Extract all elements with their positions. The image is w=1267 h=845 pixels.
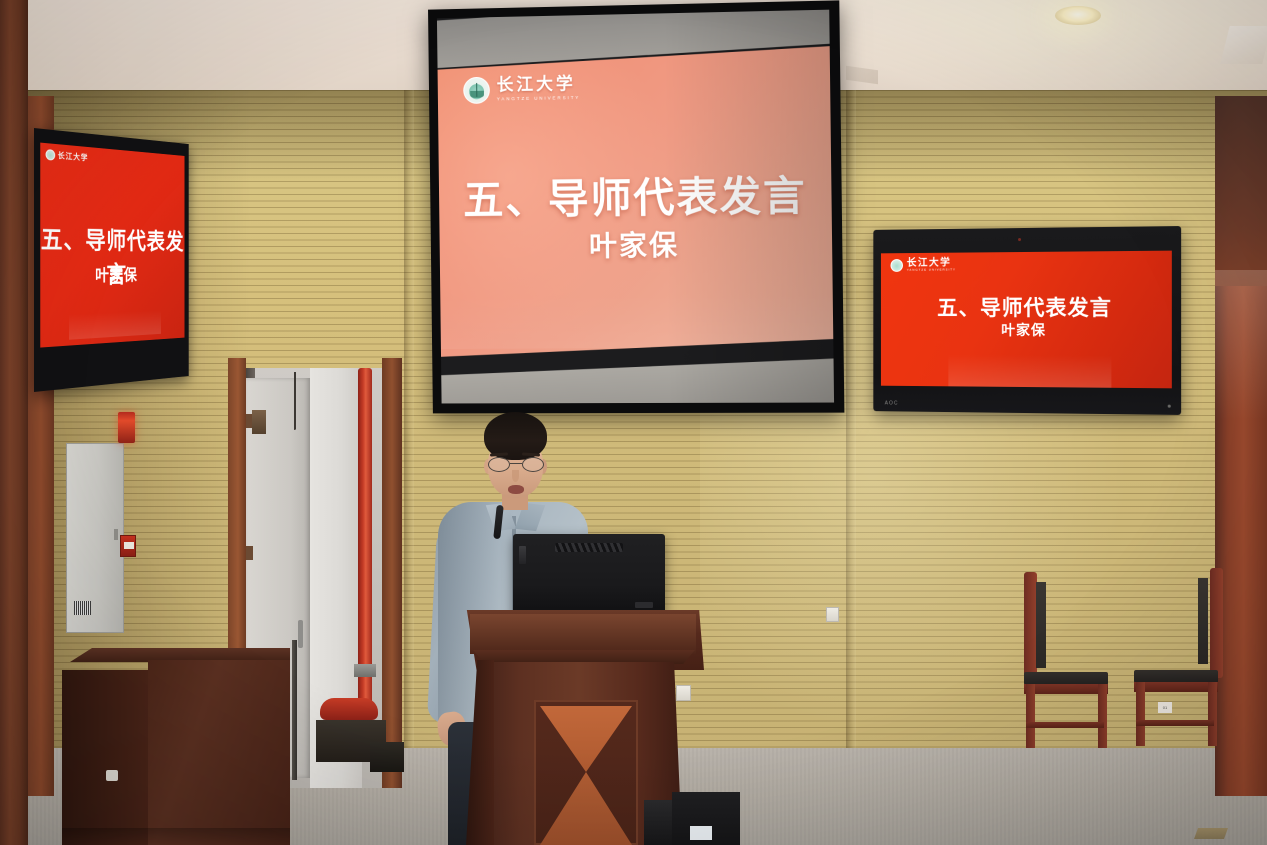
projection-screen-surface: 长江大学 YANGTZE UNIVERSITY 五、导师代表发言 叶家保 [437,10,834,404]
chair-left-stretcher [1026,722,1104,728]
lectern-top-face [470,614,696,654]
wall-outlet-icon-2[interactable] [826,607,839,622]
wooden-cabinet[interactable] [62,648,290,845]
door-lock-icon [252,410,266,434]
fire-alarm-strobe-icon [118,412,135,443]
chair-left-leg-back [1098,684,1107,748]
left-display-skyline-graphic [69,310,161,339]
chair-left-apron [1024,684,1108,694]
power-led-icon [1168,405,1171,408]
equipment-case-label [690,826,712,840]
right-display-brand-label: AOC [885,400,899,406]
floor-vent [1194,828,1228,839]
panel-latch-icon[interactable] [114,529,118,540]
glasses-bridge [510,463,522,464]
cabinet-side-panel [62,670,150,845]
right-display-subtitle: 叶家保 [881,320,1172,340]
left-wall-trim [0,0,28,845]
chair-inventory-tag: 01 [1158,702,1172,713]
fire-alarm-pull-station-icon[interactable] [120,535,136,557]
university-seal-icon [890,259,902,272]
slide-title: 五、导师代表发言 [439,161,832,226]
presentation-slide: 长江大学 YANGTZE UNIVERSITY 五、导师代表发言 叶家保 [438,46,834,357]
display-indicator-icon [1018,238,1021,241]
projection-screen-frame: 长江大学 YANGTZE UNIVERSITY 五、导师代表发言 叶家保 [428,0,844,413]
monitor-brand-logo [519,546,526,564]
lectern-hourglass-inlay [540,706,632,845]
left-display-logo-text: 长江大学 [58,150,88,163]
monitor-badge [635,602,653,608]
cabinet-sticker [106,770,118,781]
right-column-upper-shade [1215,96,1267,286]
chair-right[interactable]: 01 [1124,568,1228,748]
university-seal-icon [463,77,490,104]
equipment-case-secondary[interactable] [644,800,674,845]
lectern-lip [466,650,702,664]
right-column-sheen [1215,270,1267,420]
recessed-ceiling-light-icon [1055,6,1101,25]
chair-right-stretcher [1136,720,1214,726]
cabinet-shadow [62,828,290,845]
right-display-title: 五、导师代表发言 [881,291,1172,322]
screen-letterbox-bottom [441,359,834,404]
pipe-elbow [320,698,378,720]
door-hinge-lower [246,546,253,560]
slide-logo-english: YANGTZE UNIVERSITY [497,96,581,102]
left-display-screen: 长江大学 五、导师代表发言 叶家保 [40,143,184,348]
tripod-stand[interactable] [292,640,297,780]
slide-subtitle: 叶家保 [439,222,832,266]
conference-room-photo: 长江大学 五、导师代表发言 叶家保 长江大学 YANGTZE [0,0,1267,845]
chair-right-apron [1134,682,1218,692]
cabinet-front-panel [148,660,290,845]
monitor-vent-grille [555,543,623,552]
presenter-nose [512,470,519,482]
wall-seam-left [404,90,414,790]
chair-left-back-cushion [1036,582,1046,668]
chair-right-backrest [1210,568,1223,678]
fire-standpipe [358,368,372,708]
slide-university-logo: 长江大学 YANGTZE UNIVERSITY [463,75,580,104]
slide-logo-chinese: 长江大学 [497,76,581,94]
glasses-lens-left [488,457,510,472]
slide-skyline-graphic [440,292,833,349]
podium-monitor[interactable] [513,534,665,618]
left-display-logo: 长江大学 [46,149,89,163]
pipe-clamp [354,664,376,677]
right-display-logo: 长江大学 YANGTZE UNIVERSITY [890,259,955,272]
chair-right-leg-front [1136,682,1145,746]
door-handle-icon[interactable] [298,620,303,648]
right-display-screen: 长江大学 YANGTZE UNIVERSITY 五、导师代表发言 叶家保 [881,251,1172,389]
ceiling-vent [1220,26,1267,64]
floor-equipment-left-2[interactable] [370,742,404,772]
right-display-logo-english: YANGTZE UNIVERSITY [907,268,956,271]
chair-right-back-cushion [1198,578,1208,664]
chair-right-leg-back [1208,682,1217,746]
right-wall-display[interactable]: 长江大学 YANGTZE UNIVERSITY 五、导师代表发言 叶家保 AOC [873,226,1181,415]
wall-outlet-icon[interactable] [676,685,691,701]
wall-seam-right [846,90,856,790]
chair-left[interactable] [1020,572,1120,748]
left-wall-display[interactable]: 长江大学 五、导师代表发言 叶家保 [34,128,189,392]
university-seal-icon [46,149,56,161]
main-projection-screen[interactable]: 长江大学 YANGTZE UNIVERSITY 五、导师代表发言 叶家保 [428,5,840,413]
left-display-subtitle: 叶家保 [40,262,184,287]
wall-electrical-panel[interactable] [66,443,124,633]
glasses-lens-right [522,457,544,472]
hanging-cable [294,372,297,430]
panel-barcode-sticker [74,601,91,615]
chair-left-leg-front [1026,684,1035,748]
presenter-mouth [508,485,524,494]
right-display-skyline-graphic [949,355,1112,388]
